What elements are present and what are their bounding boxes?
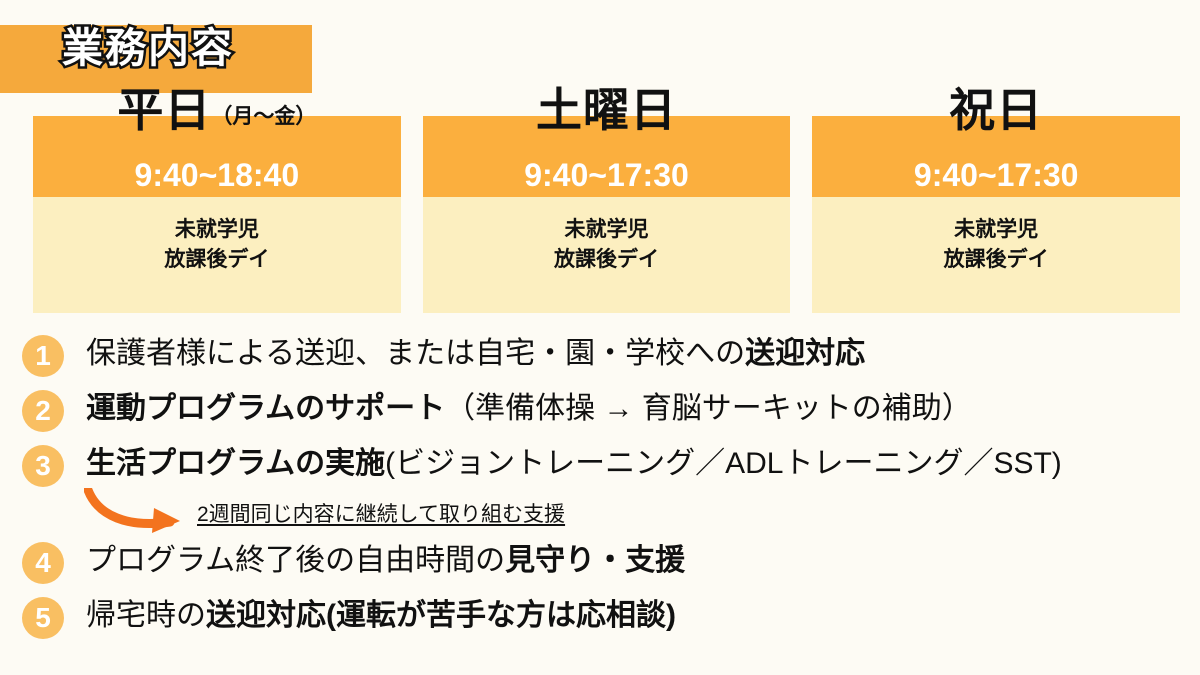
task-text-bold: 見守り・支援 — [505, 544, 685, 577]
task-text-bold: 送迎対応(運転が苦手な方は応相談) — [206, 599, 676, 632]
task-text: プログラム終了後の自由時間の見守り・支援 — [86, 538, 685, 583]
schedule-card-saturday: 土曜日 9:40~17:30 未就学児 放課後デイ — [423, 116, 791, 313]
task-number-badge: 5 — [22, 597, 64, 639]
task-number-badge: 3 — [22, 445, 64, 487]
schedule-card-weekday: 平日（月～金） 9:40~18:40 未就学児 放課後デイ — [33, 116, 401, 313]
task-text-normal: 保護者様による送迎、または自宅・園・学校への — [86, 337, 745, 370]
schedule-card-day-name: 土曜日 — [536, 84, 677, 136]
schedule-card-day-label: 土曜日 — [423, 87, 791, 133]
schedule-card-day-label: 祝日 — [812, 87, 1180, 133]
schedule-card-header: 土曜日 9:40~17:30 — [423, 116, 791, 197]
schedule-card-services: 未就学児 放課後デイ — [812, 197, 1180, 313]
service-line: 放課後デイ — [812, 245, 1180, 275]
schedule-card-day-note: （月～金） — [211, 105, 316, 128]
task-item-4: 4 プログラム終了後の自由時間の見守り・支援 — [22, 538, 1192, 593]
schedule-card-hours: 9:40~18:40 — [33, 159, 401, 191]
task-number-badge: 4 — [22, 542, 64, 584]
task-text: 生活プログラムの実施(ビジョントレーニング／ADLトレーニング／SST) — [86, 441, 1062, 486]
task-text-normal-tail: （準備体操 → 育脳サーキットの補助） — [445, 392, 972, 425]
schedule-card-hours: 9:40~17:30 — [423, 159, 791, 191]
task-text: 運動プログラムのサポート（準備体操 → 育脳サーキットの補助） — [86, 386, 972, 431]
task-sub-note: 2週間同じ内容に継続して取り組む支援 — [22, 496, 1192, 538]
task-text-bold: 運動プログラムのサポート — [86, 392, 445, 425]
task-item-5: 5 帰宅時の送迎対応(運転が苦手な方は応相談) — [22, 593, 1192, 648]
task-text-normal-tail: (ビジョントレーニング／ADLトレーニング／SST) — [385, 447, 1062, 480]
task-text-normal: 帰宅時の — [86, 599, 206, 632]
service-line: 放課後デイ — [423, 245, 791, 275]
schedule-card-header: 平日（月～金） 9:40~18:40 — [33, 116, 401, 197]
task-number-badge: 2 — [22, 390, 64, 432]
task-sub-note-text: 2週間同じ内容に継続して取り組む支援 — [197, 498, 565, 528]
schedule-card-day-name: 平日 — [117, 84, 211, 136]
service-line: 未就学児 — [812, 215, 1180, 245]
task-number-badge: 1 — [22, 335, 64, 377]
curved-arrow-icon — [84, 488, 196, 539]
task-text-bold: 生活プログラムの実施 — [86, 447, 385, 480]
service-line: 未就学児 — [423, 215, 791, 245]
task-item-2: 2 運動プログラムのサポート（準備体操 → 育脳サーキットの補助） — [22, 386, 1192, 441]
task-text-normal: プログラム終了後の自由時間の — [86, 544, 505, 577]
task-item-1: 1 保護者様による送迎、または自宅・園・学校への送迎対応 — [22, 331, 1192, 386]
schedule-card-hours: 9:40~17:30 — [812, 159, 1180, 191]
task-text: 帰宅時の送迎対応(運転が苦手な方は応相談) — [86, 593, 676, 638]
schedule-card-day-label: 平日（月～金） — [33, 87, 401, 133]
schedule-card-holiday: 祝日 9:40~17:30 未就学児 放課後デイ — [812, 116, 1180, 313]
task-text: 保護者様による送迎、または自宅・園・学校への送迎対応 — [86, 331, 865, 376]
task-item-3: 3 生活プログラムの実施(ビジョントレーニング／ADLトレーニング／SST) — [22, 441, 1192, 496]
schedule-card-header: 祝日 9:40~17:30 — [812, 116, 1180, 197]
service-line: 未就学児 — [33, 215, 401, 245]
schedule-card-group: 平日（月～金） 9:40~18:40 未就学児 放課後デイ 土曜日 9:40~1… — [33, 116, 1180, 313]
schedule-card-services: 未就学児 放課後デイ — [423, 197, 791, 313]
service-line: 放課後デイ — [33, 245, 401, 275]
schedule-card-services: 未就学児 放課後デイ — [33, 197, 401, 313]
task-list: 1 保護者様による送迎、または自宅・園・学校への送迎対応 2 運動プログラムのサ… — [22, 331, 1192, 648]
page-title: 業務内容 — [62, 28, 234, 69]
task-text-bold: 送迎対応 — [745, 337, 865, 370]
schedule-card-day-name: 祝日 — [949, 84, 1043, 136]
